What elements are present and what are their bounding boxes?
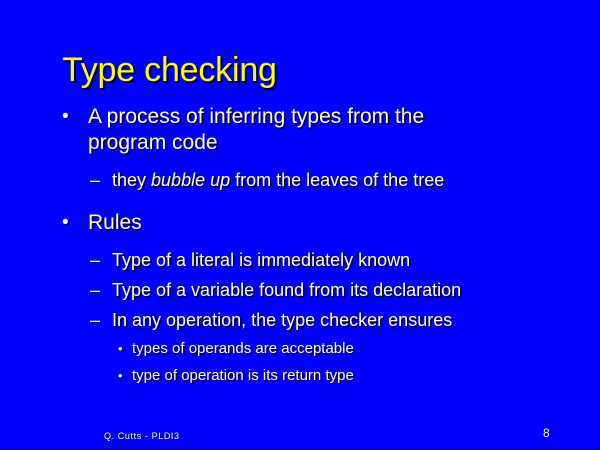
bullet-dash-icon: – xyxy=(90,308,112,332)
footer-author: Q. Cutts - PLDI3 xyxy=(104,430,180,442)
bullet-small-disc-icon: • xyxy=(118,338,132,359)
bullet-disc-icon: • xyxy=(62,104,88,130)
bubble-pre: they xyxy=(112,170,151,190)
bullet-level3-text: types of operands are acceptable xyxy=(132,338,354,359)
bullet-dash-icon: – xyxy=(90,168,112,192)
bullet-level2-literal: – Type of a literal is immediately known xyxy=(0,248,600,272)
bullet-dash-icon: – xyxy=(90,278,112,302)
bullet-level2-operation: – In any operation, the type checker ens… xyxy=(0,308,600,332)
spacer xyxy=(0,192,600,210)
bullet-level3-return-type: • type of operation is its return type xyxy=(0,365,600,386)
bullet-level2-text: they bubble up from the leaves of the tr… xyxy=(112,168,444,192)
bullet-level2-bubble-up: – they bubble up from the leaves of the … xyxy=(0,168,600,192)
spacer xyxy=(0,238,600,248)
spacer xyxy=(0,158,600,168)
bullet-level1-text: A process of inferring types from the pr… xyxy=(88,104,508,156)
bullet-level1-text: Rules xyxy=(88,210,142,236)
bubble-emphasis: bubble up xyxy=(151,170,230,190)
bullet-level2-text: Type of a variable found from its declar… xyxy=(112,278,461,302)
slide-canvas: Type checking • A process of inferring t… xyxy=(0,0,600,450)
bullet-level1-rules: • Rules xyxy=(0,210,600,236)
bullet-level2-text: In any operation, the type checker ensur… xyxy=(112,308,452,332)
bullet-level1-process: • A process of inferring types from the … xyxy=(0,104,600,156)
bullet-level2-text: Type of a literal is immediately known xyxy=(112,248,410,272)
bullet-level3-text: type of operation is its return type xyxy=(132,365,354,386)
bullet-level2-variable: – Type of a variable found from its decl… xyxy=(0,278,600,302)
bullet-small-disc-icon: • xyxy=(118,365,132,386)
bullet-dash-icon: – xyxy=(90,248,112,272)
slide-title: Type checking xyxy=(62,50,277,90)
slide-body: • A process of inferring types from the … xyxy=(0,104,600,386)
bullet-disc-icon: • xyxy=(62,210,88,236)
bubble-post: from the leaves of the tree xyxy=(230,170,444,190)
slide-page-number: 8 xyxy=(543,426,550,440)
bullet-level3-operands: • types of operands are acceptable xyxy=(0,338,600,359)
